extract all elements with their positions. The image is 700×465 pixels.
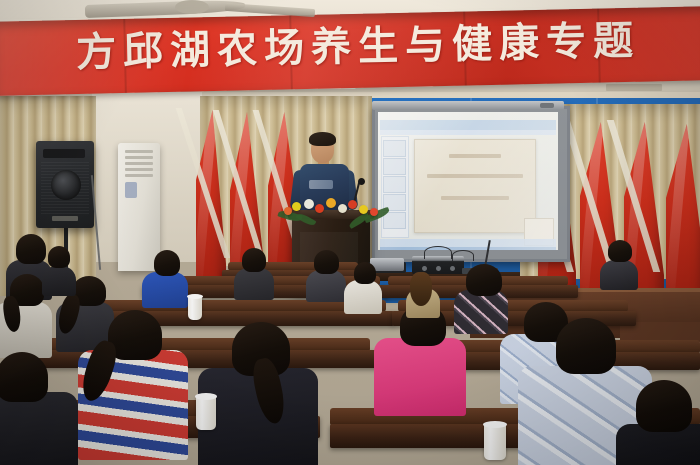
- paper-cup[interactable]: [484, 424, 506, 460]
- screen-pull-knob[interactable]: [540, 103, 554, 108]
- flower-orange: [326, 198, 336, 208]
- ac-vent-slat: [125, 156, 153, 159]
- paper-cup[interactable]: [196, 396, 216, 430]
- speaker-logo: [52, 216, 78, 221]
- ac-vent-slat: [125, 168, 153, 171]
- photo-scene: 方邱湖农场养生与健康专题: [0, 0, 700, 465]
- attendee-blue-shirt: [142, 272, 188, 308]
- speaker-port: [43, 149, 85, 158]
- mixer-knob[interactable]: [450, 266, 455, 271]
- attendee-white-top: [344, 280, 382, 314]
- speaker-woofer: [51, 170, 81, 200]
- presenter-hair: [309, 132, 336, 146]
- flower-yellow: [359, 205, 368, 214]
- attendee-pink-shirt: [374, 338, 466, 416]
- screen-glare: [378, 112, 558, 250]
- paper-cup-rim: [187, 294, 203, 299]
- attendee-dark-top: [234, 268, 274, 300]
- microphone-head: [358, 178, 365, 185]
- ac-vent-slat: [125, 174, 153, 177]
- flower-red: [370, 208, 378, 216]
- flower-orange: [284, 207, 292, 215]
- ceiling-vent: [606, 84, 662, 91]
- attendee-floral-dark: [454, 290, 508, 334]
- paper-cup[interactable]: [188, 296, 202, 320]
- av-cable: [452, 250, 474, 261]
- flower-white: [338, 204, 347, 213]
- mixer-knob[interactable]: [436, 266, 441, 271]
- flower-red: [348, 200, 357, 209]
- attendee-edge-left: [0, 392, 78, 465]
- attendee-small-back: [42, 266, 76, 296]
- ac-vent-slat: [125, 150, 153, 153]
- attendee-grey-top: [306, 270, 346, 302]
- flower-white: [304, 199, 314, 209]
- paper-cup-rim: [195, 393, 217, 400]
- flower-yellow: [292, 202, 301, 211]
- av-cable: [424, 246, 452, 259]
- shirt-graphic: [309, 180, 333, 189]
- paper-cup-rim: [483, 421, 507, 428]
- ceiling-fan-hub: [175, 0, 209, 14]
- flower-red: [315, 204, 324, 213]
- bench-row: [18, 350, 382, 368]
- mixer-knob[interactable]: [422, 266, 427, 271]
- ac-control-panel[interactable]: [125, 182, 137, 198]
- flower-arrangement: [282, 196, 384, 224]
- projector-screen-housing: [372, 101, 564, 110]
- attendee-far-right: [600, 260, 638, 290]
- ac-vent-slat: [125, 162, 153, 165]
